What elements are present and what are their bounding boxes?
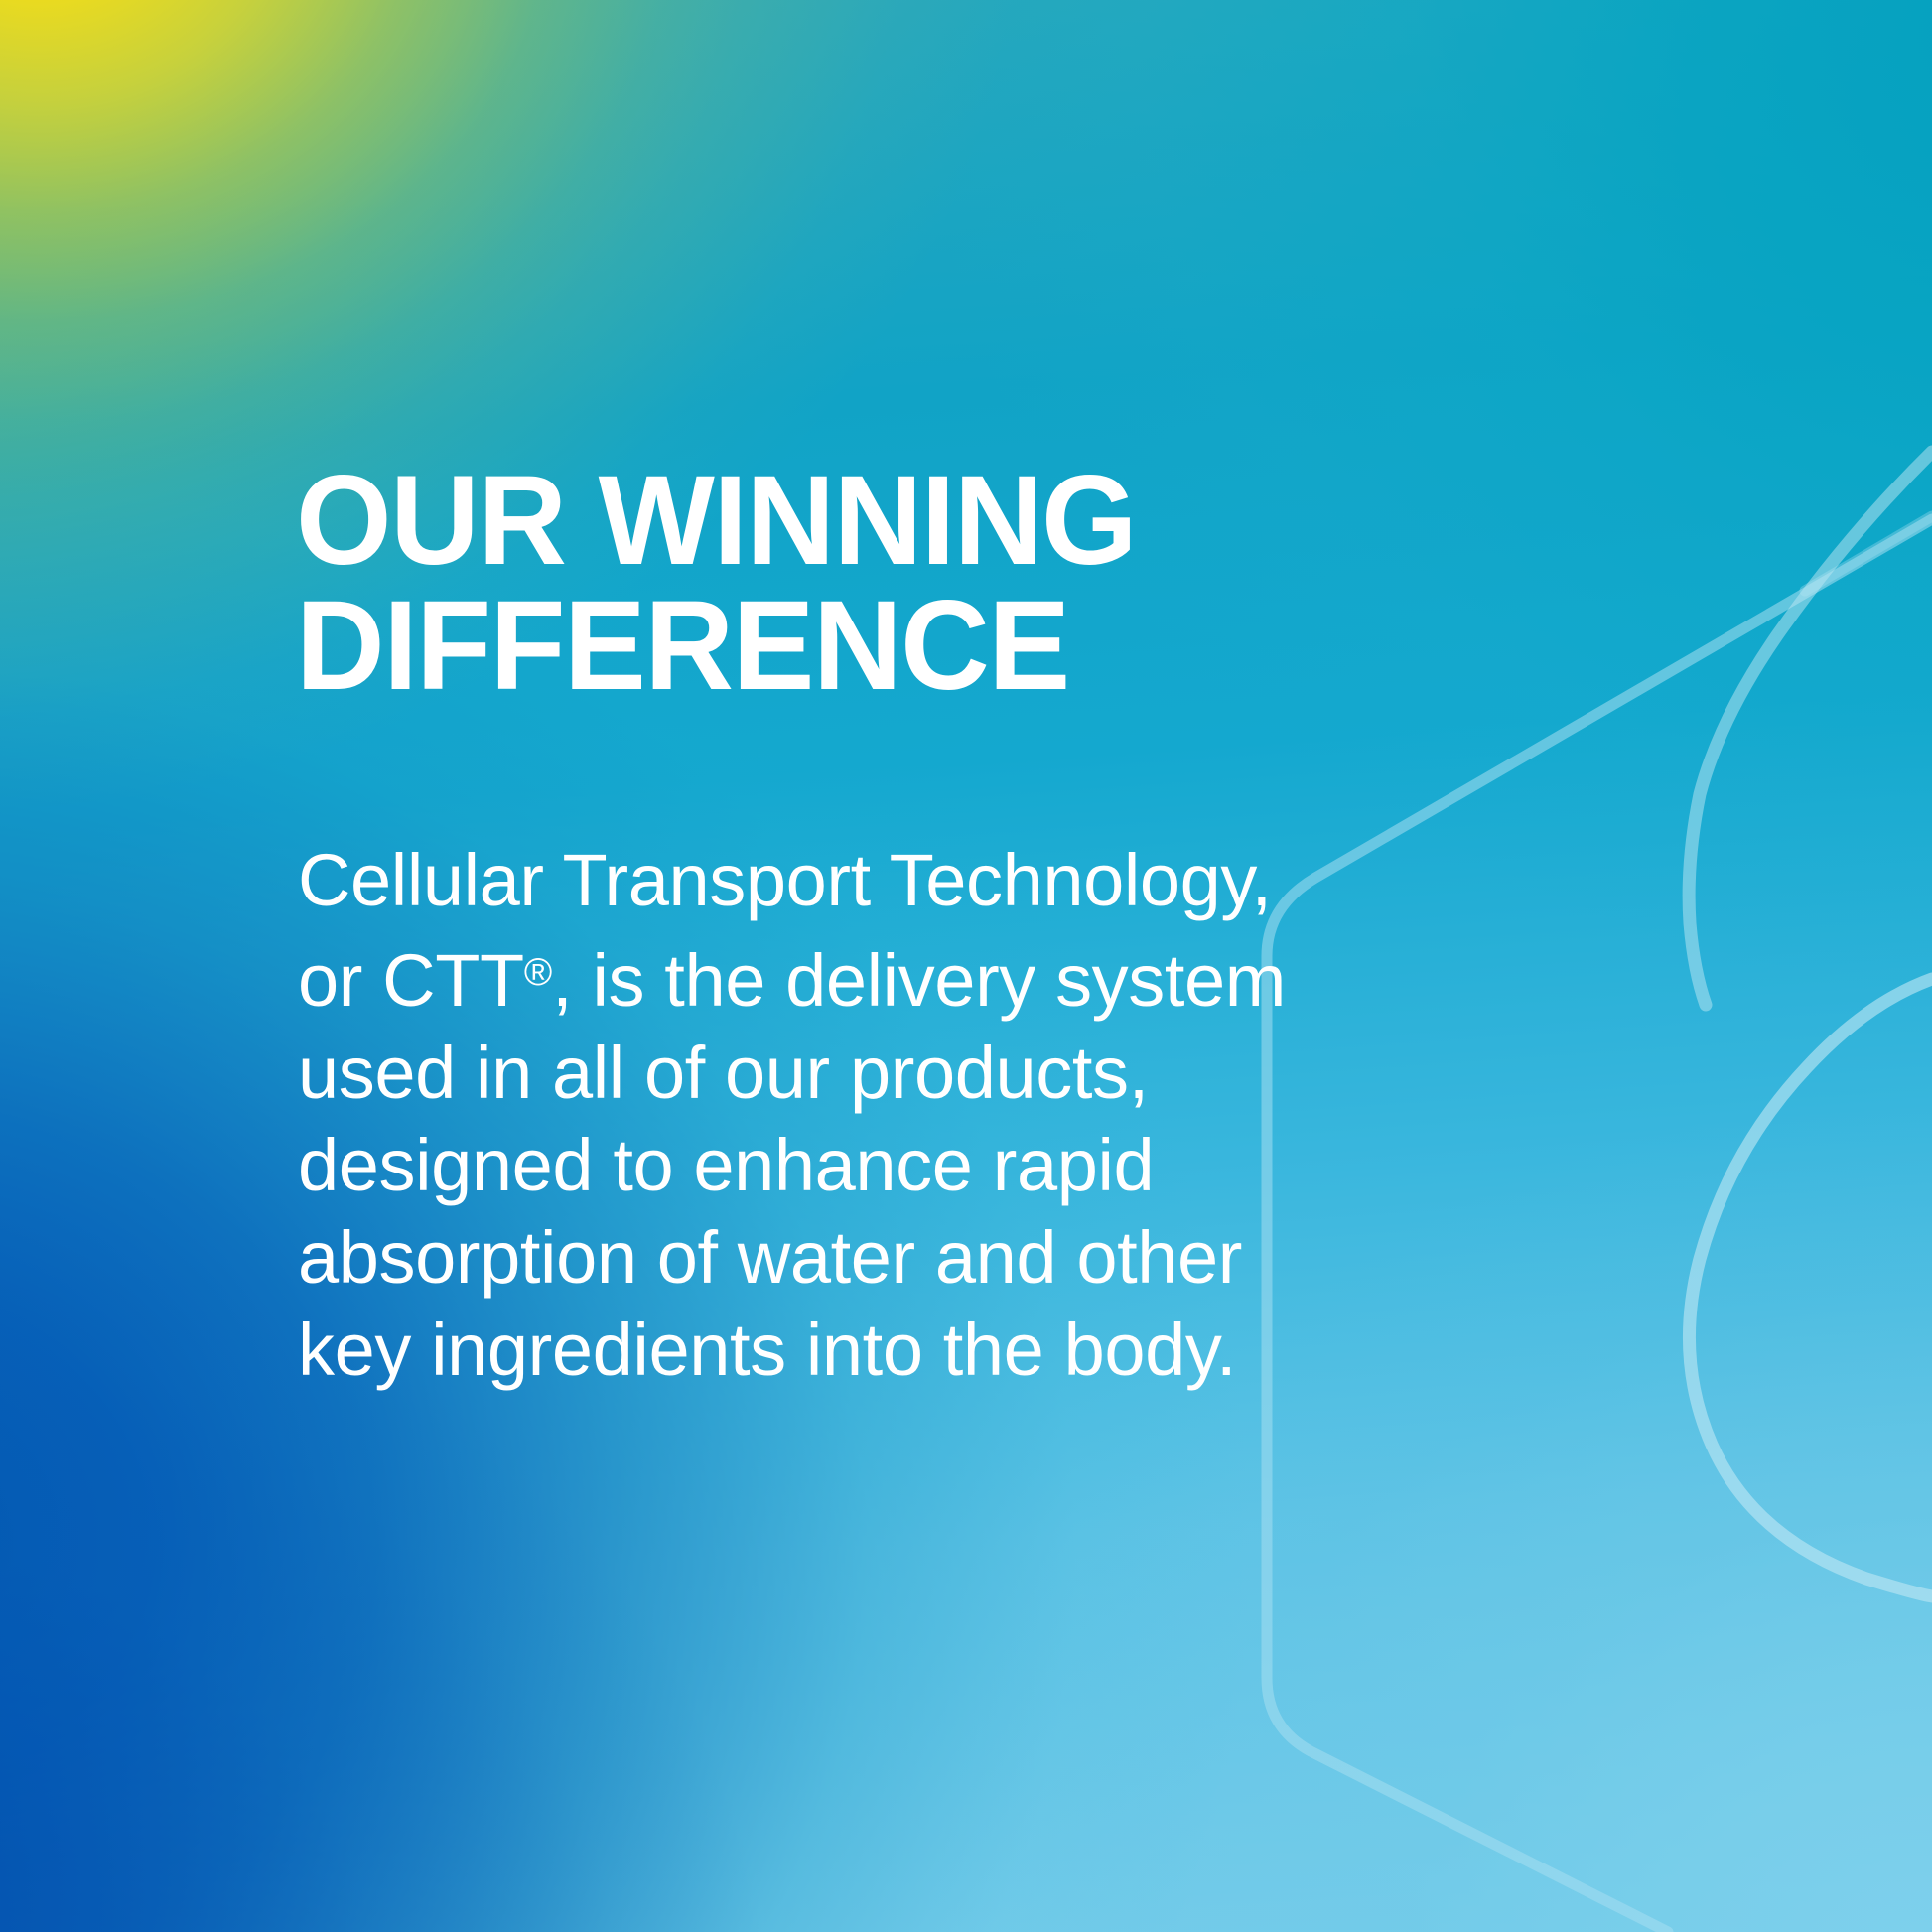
body-line-3: used in all of our products,	[298, 1032, 1149, 1114]
u-curve-tail	[1845, 961, 1932, 1044]
text-block: OUR WINNING DIFFERENCE Cellular Transpor…	[296, 0, 1587, 1932]
diagonal-line-upper	[1805, 516, 1932, 591]
body-line-5: absorption of water and other	[298, 1216, 1242, 1299]
u-curve-line	[1689, 979, 1932, 1596]
body-paragraph: Cellular Transport Technology, or CTT®, …	[298, 834, 1286, 1396]
body-line-6: key ingredients into the body.	[298, 1309, 1236, 1391]
promo-card: OUR WINNING DIFFERENCE Cellular Transpor…	[0, 0, 1932, 1932]
body-line-1: Cellular Transport Technology,	[298, 839, 1272, 921]
body-line-4: designed to enhance rapid	[298, 1124, 1154, 1206]
page-title: OUR WINNING DIFFERENCE	[296, 459, 1136, 709]
body-line-2-pre: or CTT	[298, 939, 524, 1022]
registered-trademark-icon: ®	[524, 951, 552, 994]
body-line-2-post: , is the delivery system	[552, 939, 1286, 1022]
u-curve-upper-arm	[1689, 452, 1932, 1005]
